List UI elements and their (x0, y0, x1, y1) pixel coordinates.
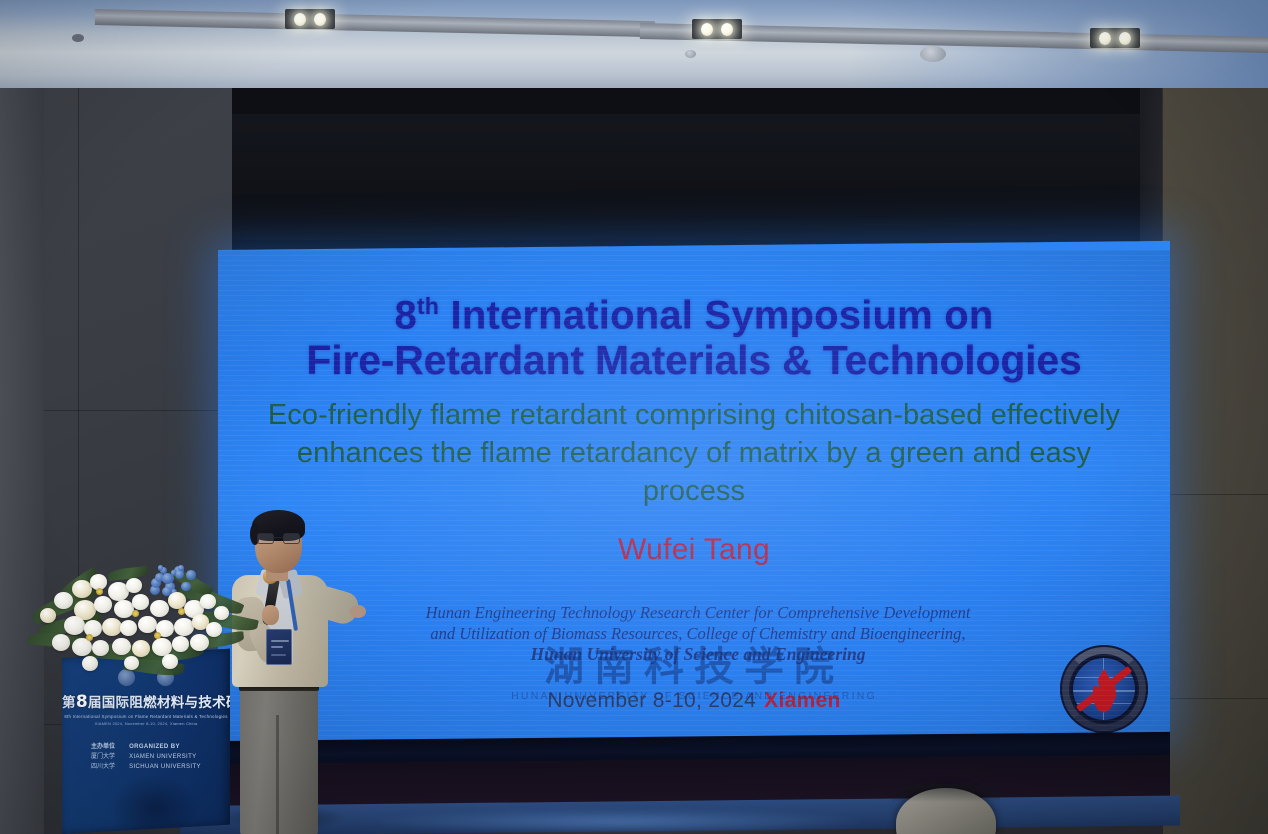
blue-hydrangea-petal (175, 570, 184, 579)
eyeglasses-icon (257, 533, 300, 544)
slide-title-superscript: th (417, 293, 439, 319)
white-rose (124, 656, 139, 670)
white-rose (126, 578, 142, 593)
affiliation-line-2: and Utilization of Biomass Resources, Co… (298, 623, 1098, 644)
white-rose (120, 620, 137, 636)
flower-arrangement (28, 548, 248, 683)
flower-center-accent (96, 588, 103, 595)
ceiling-lamp (1090, 28, 1140, 48)
slide-affiliation: Hunan Engineering Technology Research Ce… (298, 602, 1098, 665)
affiliation-line-1: Hunan Engineering Technology Research Ce… (298, 602, 1098, 623)
podium-subtitle-en2: XIAMEN 2024, November 8-10, 2024, Xiamen… (62, 721, 230, 726)
podium-title-prefix: 第 (62, 695, 76, 711)
organizer-2-cn: 四川大学 (91, 762, 115, 772)
white-rose (214, 606, 229, 620)
blue-hydrangea-petal (158, 565, 163, 570)
white-rose (114, 600, 134, 618)
left-wall-edge (0, 88, 44, 834)
podium-title-suffix: 届国际阻燃材料与技术研讨会 (88, 695, 230, 711)
right-wall-panel (1162, 88, 1268, 834)
white-rose (200, 594, 216, 609)
podium-organizers: 主办单位 厦门大学 四川大学 ORGANIZED BY XIAMEN UNIVE… (62, 742, 230, 772)
ceiling-speaker (920, 46, 946, 62)
white-rose (64, 616, 85, 635)
ceiling-fixture (72, 34, 84, 42)
blue-hydrangea-petal (186, 570, 196, 580)
no-flame-globe-emblem-icon (1060, 645, 1148, 733)
organizer-1-cn: 厦门大学 (91, 752, 115, 762)
flower-center-accent (132, 610, 139, 617)
audience-member-head (896, 788, 996, 834)
white-rose (82, 656, 98, 671)
ceiling (0, 0, 1268, 96)
organizer-1-en: XIAMEN UNIVERSITY (129, 752, 201, 762)
slide-date: November 8-10, 2024 (547, 689, 756, 712)
white-rose (92, 640, 109, 656)
organizer-2-en: SICHUAN UNIVERSITY (129, 762, 201, 772)
slide-title-ordinal: 8 (394, 293, 416, 337)
slide-subtitle: Eco-friendly flame retardant comprising … (254, 396, 1134, 510)
podium-title-chinese: 第8届国际阻燃材料与技术研讨会 (62, 691, 230, 712)
white-rose (174, 618, 194, 636)
organizer-header-en: ORGANIZED BY (129, 742, 201, 752)
flower-center-accent (86, 634, 93, 641)
white-rose (40, 608, 56, 623)
slide-title-line2: Fire-Retardant Materials & Technologies (218, 338, 1170, 383)
white-rose (94, 596, 112, 613)
white-rose (162, 654, 178, 669)
slide-city: Xiamen (764, 689, 841, 712)
white-rose (132, 594, 149, 610)
ceiling-lamp (692, 19, 742, 39)
flower-center-accent (178, 608, 185, 615)
white-rose (150, 600, 169, 617)
stage-floor-reflection (380, 810, 860, 834)
slide-title: 8th International Symposium on Fire-Reta… (218, 284, 1170, 383)
ceiling-vent (685, 50, 696, 58)
presenter-name-badge (266, 629, 292, 665)
ceiling-light-rail (95, 9, 655, 37)
slide-title-line1-rest: International Symposium on (439, 293, 993, 337)
organizer-header-cn: 主办单位 (91, 742, 115, 752)
ceiling-lamp (285, 9, 335, 29)
affiliation-university: Hunan University of Science and Engineer… (298, 644, 1098, 665)
blue-hydrangea-petal (178, 565, 184, 571)
podium-title-number: 8 (76, 692, 88, 712)
podium-subtitle-en: 8th International Symposium on Flame Ret… (62, 714, 230, 719)
white-rose (206, 622, 222, 637)
white-rose (52, 634, 70, 651)
photograph-scene: 8th International Symposium on Fire-Reta… (0, 0, 1268, 834)
white-rose (138, 616, 157, 633)
blue-hydrangea-petal (181, 582, 190, 591)
flower-center-accent (154, 632, 161, 639)
white-rose (102, 618, 122, 636)
presenter-trousers (240, 687, 318, 834)
presenter-left-hand (262, 605, 279, 625)
presenter-right-hand (350, 605, 366, 618)
white-rose (132, 640, 150, 657)
white-rose (172, 636, 189, 652)
back-wall-band (232, 88, 1168, 114)
white-rose (190, 634, 209, 651)
